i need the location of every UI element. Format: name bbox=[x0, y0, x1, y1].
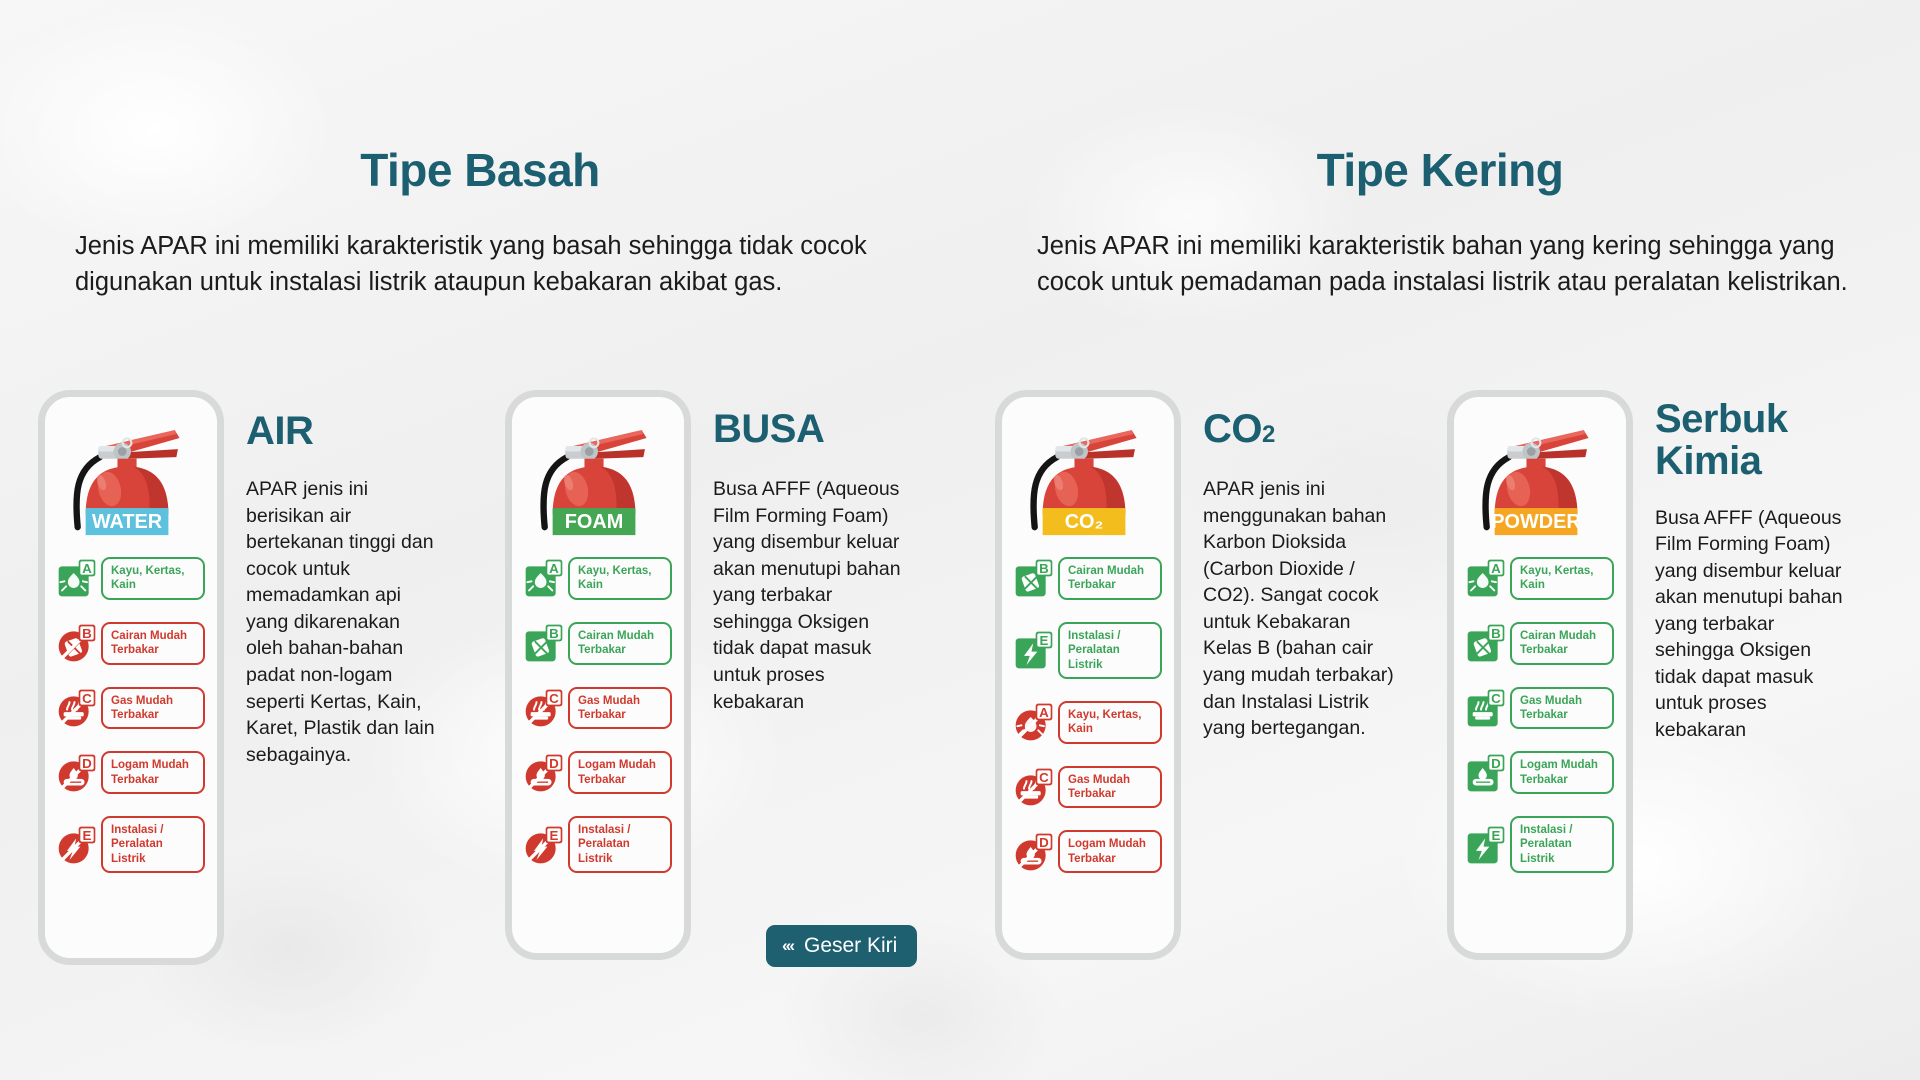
fire-class-label: Logam Mudah Terbakar bbox=[1510, 751, 1614, 794]
card-title-line2: Kimia bbox=[1655, 439, 1761, 483]
fire-class-label: Gas Mudah Terbakar bbox=[568, 687, 672, 730]
class-b-flammable-liquid-icon: B bbox=[57, 623, 97, 663]
slide-left-button[interactable]: ‹‹‹ Geser Kiri bbox=[766, 925, 917, 967]
panel-title-tipe-kering: Tipe Kering bbox=[960, 143, 1920, 197]
svg-text:E: E bbox=[1492, 828, 1501, 843]
card-text-co2: CO2 APAR jenis ini menggunakan bahan Kar… bbox=[1181, 390, 1396, 742]
svg-text:C: C bbox=[549, 691, 559, 706]
extinguisher-card-serbuk-kimia[interactable]: POWDER A Kayu, Kertas, Kain B Cairan Mud… bbox=[1447, 390, 1633, 960]
fire-class-row: D Logam Mudah Terbakar bbox=[1466, 751, 1614, 794]
class-e-electrical-icon: E bbox=[1466, 825, 1506, 865]
fire-class-row: A Kayu, Kertas, Kain bbox=[57, 557, 205, 600]
class-b-flammable-liquid-icon: B bbox=[524, 623, 564, 663]
fire-class-label: Gas Mudah Terbakar bbox=[101, 687, 205, 730]
card-text-busa: BUSA Busa AFFF (Aqueous Film Forming Foa… bbox=[691, 390, 906, 715]
fire-class-row: E Instalasi / Peralatan Listrik bbox=[1014, 622, 1162, 679]
svg-text:C: C bbox=[1039, 770, 1049, 785]
class-e-electrical-icon: E bbox=[57, 825, 97, 865]
svg-text:CO₂: CO₂ bbox=[1065, 511, 1104, 533]
card-text-serbuk-kimia: SerbukKimia Busa AFFF (Aqueous Film Form… bbox=[1633, 390, 1848, 743]
class-b-flammable-liquid-icon: B bbox=[1014, 558, 1054, 598]
card-body-co2: APAR jenis ini menggunakan bahan Karbon … bbox=[1203, 476, 1396, 741]
extinguisher-group-serbuk-kimia: POWDER A Kayu, Kertas, Kain B Cairan Mud… bbox=[1447, 390, 1848, 960]
svg-text:A: A bbox=[1491, 561, 1501, 576]
card-title-air: AIR bbox=[246, 410, 439, 452]
fire-class-label: Gas Mudah Terbakar bbox=[1510, 687, 1614, 730]
card-body-busa: Busa AFFF (Aqueous Film Forming Foam) ya… bbox=[713, 476, 906, 715]
svg-text:D: D bbox=[1491, 756, 1501, 771]
extinguisher-illustration-co2: CO₂ bbox=[1014, 411, 1162, 551]
fire-class-row: A Kayu, Kertas, Kain bbox=[1014, 701, 1162, 744]
fire-class-row: B Cairan Mudah Terbakar bbox=[57, 622, 205, 665]
extinguisher-card-busa[interactable]: FOAM A Kayu, Kertas, Kain B Cairan Mudah… bbox=[505, 390, 691, 960]
fire-class-list-air: A Kayu, Kertas, Kain B Cairan Mudah Terb… bbox=[57, 557, 205, 873]
fire-class-label: Instalasi / Peralatan Listrik bbox=[101, 816, 205, 873]
fire-class-row: B Cairan Mudah Terbakar bbox=[1014, 557, 1162, 600]
svg-text:E: E bbox=[550, 828, 559, 843]
card-title-busa: BUSA bbox=[713, 408, 906, 450]
svg-text:D: D bbox=[1039, 835, 1049, 850]
svg-text:B: B bbox=[549, 626, 559, 641]
svg-text:POWDER: POWDER bbox=[1491, 511, 1580, 533]
extinguisher-card-co2[interactable]: CO₂ B Cairan Mudah Terbakar E Instalasi … bbox=[995, 390, 1181, 960]
fire-class-label: Cairan Mudah Terbakar bbox=[1058, 557, 1162, 600]
class-a-wood-paper-icon: A bbox=[1014, 702, 1054, 742]
extinguisher-illustration-busa: FOAM bbox=[524, 411, 672, 551]
card-text-air: AIR APAR jenis ini berisikan air berteka… bbox=[224, 390, 439, 768]
card-title-serbuk-kimia: SerbukKimia bbox=[1655, 398, 1848, 483]
svg-text:B: B bbox=[1039, 561, 1049, 576]
class-a-wood-paper-icon: A bbox=[524, 558, 564, 598]
apar-comparison-page: Tipe Basah Jenis APAR ini memiliki karak… bbox=[0, 0, 1920, 1080]
fire-class-row: E Instalasi / Peralatan Listrik bbox=[57, 816, 205, 873]
class-d-flammable-metal-icon: D bbox=[524, 753, 564, 793]
fire-class-row: E Instalasi / Peralatan Listrik bbox=[1466, 816, 1614, 873]
fire-class-row: C Gas Mudah Terbakar bbox=[1014, 766, 1162, 809]
fire-class-row: A Kayu, Kertas, Kain bbox=[1466, 557, 1614, 600]
svg-text:C: C bbox=[1491, 691, 1501, 706]
svg-text:A: A bbox=[1039, 705, 1049, 720]
slide-left-button-label: Geser Kiri bbox=[804, 934, 897, 958]
class-c-flammable-gas-icon: C bbox=[57, 688, 97, 728]
class-e-electrical-icon: E bbox=[524, 825, 564, 865]
extinguisher-group-busa: FOAM A Kayu, Kertas, Kain B Cairan Mudah… bbox=[505, 390, 906, 960]
fire-class-label: Instalasi / Peralatan Listrik bbox=[1058, 622, 1162, 679]
fire-class-row: C Gas Mudah Terbakar bbox=[1466, 687, 1614, 730]
fire-class-label: Kayu, Kertas, Kain bbox=[1058, 701, 1162, 744]
svg-text:B: B bbox=[82, 626, 92, 641]
fire-class-row: D Logam Mudah Terbakar bbox=[1014, 830, 1162, 873]
svg-text:E: E bbox=[83, 828, 92, 843]
fire-class-row: D Logam Mudah Terbakar bbox=[524, 751, 672, 794]
panel-description-tipe-kering: Jenis APAR ini memiliki karakteristik ba… bbox=[1037, 228, 1867, 300]
fire-class-list-serbuk-kimia: A Kayu, Kertas, Kain B Cairan Mudah Terb… bbox=[1466, 557, 1614, 873]
class-c-flammable-gas-icon: C bbox=[1014, 767, 1054, 807]
fire-class-row: E Instalasi / Peralatan Listrik bbox=[524, 816, 672, 873]
fire-class-label: Kayu, Kertas, Kain bbox=[1510, 557, 1614, 600]
svg-text:FOAM: FOAM bbox=[565, 511, 624, 533]
class-d-flammable-metal-icon: D bbox=[1466, 753, 1506, 793]
fire-class-label: Gas Mudah Terbakar bbox=[1058, 766, 1162, 809]
fire-class-label: Cairan Mudah Terbakar bbox=[568, 622, 672, 665]
fire-class-label: Logam Mudah Terbakar bbox=[1058, 830, 1162, 873]
fire-class-label: Kayu, Kertas, Kain bbox=[101, 557, 205, 600]
fire-class-label: Logam Mudah Terbakar bbox=[101, 751, 205, 794]
extinguisher-illustration-serbuk-kimia: POWDER bbox=[1466, 411, 1614, 551]
svg-text:E: E bbox=[1040, 633, 1049, 648]
svg-text:D: D bbox=[82, 756, 92, 771]
svg-text:C: C bbox=[82, 691, 92, 706]
fire-class-label: Instalasi / Peralatan Listrik bbox=[1510, 816, 1614, 873]
class-e-electrical-icon: E bbox=[1014, 630, 1054, 670]
fire-class-label: Cairan Mudah Terbakar bbox=[101, 622, 205, 665]
fire-class-list-co2: B Cairan Mudah Terbakar E Instalasi / Pe… bbox=[1014, 557, 1162, 873]
svg-text:WATER: WATER bbox=[92, 511, 162, 533]
fire-class-label: Instalasi / Peralatan Listrik bbox=[568, 816, 672, 873]
fire-class-row: C Gas Mudah Terbakar bbox=[524, 687, 672, 730]
fire-class-row: A Kayu, Kertas, Kain bbox=[524, 557, 672, 600]
class-b-flammable-liquid-icon: B bbox=[1466, 623, 1506, 663]
class-d-flammable-metal-icon: D bbox=[1014, 832, 1054, 872]
class-d-flammable-metal-icon: D bbox=[57, 753, 97, 793]
card-title-line1: Serbuk bbox=[1655, 397, 1788, 441]
panel-title-tipe-basah: Tipe Basah bbox=[0, 143, 960, 197]
card-title-subscript: 2 bbox=[1262, 421, 1275, 448]
class-a-wood-paper-icon: A bbox=[57, 558, 97, 598]
fire-class-row: B Cairan Mudah Terbakar bbox=[524, 622, 672, 665]
fire-class-row: D Logam Mudah Terbakar bbox=[57, 751, 205, 794]
class-c-flammable-gas-icon: C bbox=[524, 688, 564, 728]
svg-text:A: A bbox=[82, 561, 92, 576]
panel-description-tipe-basah: Jenis APAR ini memiliki karakteristik ya… bbox=[75, 228, 915, 300]
extinguisher-group-co2: CO₂ B Cairan Mudah Terbakar E Instalasi … bbox=[995, 390, 1396, 960]
chevron-left-icon: ‹‹‹ bbox=[782, 936, 793, 956]
fire-class-list-busa: A Kayu, Kertas, Kain B Cairan Mudah Terb… bbox=[524, 557, 672, 873]
fire-class-label: Logam Mudah Terbakar bbox=[568, 751, 672, 794]
card-title-co2: CO2 bbox=[1203, 408, 1396, 450]
svg-text:D: D bbox=[549, 756, 559, 771]
card-body-air: APAR jenis ini berisikan air bertekanan … bbox=[246, 476, 439, 768]
svg-text:A: A bbox=[549, 561, 559, 576]
card-body-serbuk-kimia: Busa AFFF (Aqueous Film Forming Foam) ya… bbox=[1655, 505, 1848, 744]
fire-class-label: Cairan Mudah Terbakar bbox=[1510, 622, 1614, 665]
extinguisher-illustration-air: WATER bbox=[57, 411, 205, 551]
class-a-wood-paper-icon: A bbox=[1466, 558, 1506, 598]
extinguisher-card-air[interactable]: WATER A Kayu, Kertas, Kain B Cairan Muda… bbox=[38, 390, 224, 965]
card-title-main: CO bbox=[1203, 407, 1262, 451]
extinguisher-group-air: WATER A Kayu, Kertas, Kain B Cairan Muda… bbox=[38, 390, 439, 965]
fire-class-row: C Gas Mudah Terbakar bbox=[57, 687, 205, 730]
fire-class-label: Kayu, Kertas, Kain bbox=[568, 557, 672, 600]
class-c-flammable-gas-icon: C bbox=[1466, 688, 1506, 728]
svg-text:B: B bbox=[1491, 626, 1501, 641]
fire-class-row: B Cairan Mudah Terbakar bbox=[1466, 622, 1614, 665]
